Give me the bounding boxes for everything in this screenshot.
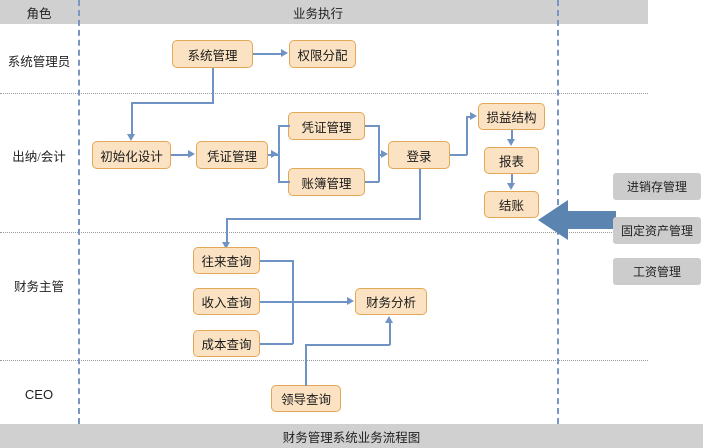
connector-login-up — [466, 117, 468, 155]
node-voucher-management-branch[interactable]: 凭证管理 — [288, 112, 365, 140]
arrowhead-analysis-from-leader — [385, 316, 393, 323]
lane-divider-1 — [0, 93, 648, 94]
node-voucher-management-main[interactable]: 凭证管理 — [196, 141, 268, 169]
connector-split-bus-vertical — [278, 126, 280, 182]
connector-cost-right — [260, 343, 293, 345]
connector-login-down — [419, 169, 421, 219]
connector-leader-up — [305, 345, 307, 386]
arrowhead-split-bus — [271, 150, 278, 158]
node-settlement[interactable]: 结账 — [484, 191, 539, 218]
footer-caption-bar: 财务管理系统业务流程图 — [0, 424, 703, 448]
lane-divider-3 — [0, 360, 648, 361]
arrowhead-profit-loss — [470, 112, 477, 120]
connector-login-to-query-bus — [226, 218, 421, 220]
arrowhead-voucher-main — [188, 150, 195, 158]
connector-sysmgmt-down — [212, 68, 214, 103]
arrowhead-login — [381, 150, 388, 158]
node-initialization-design[interactable]: 初始化设计 — [92, 141, 171, 169]
node-system-management[interactable]: 系统管理 — [172, 40, 253, 68]
side-module-fixed-assets[interactable]: 固定资产管理 — [613, 217, 701, 244]
arrowhead-permission — [281, 49, 288, 57]
arrowhead-financial-analysis — [347, 297, 354, 305]
connector-ledger-to-merge — [365, 181, 379, 183]
connector-leader-right — [305, 344, 390, 346]
connector-income-to-analysis — [260, 301, 348, 303]
flowchart-canvas: 角色 业务执行 系统管理员 出纳/会计 财务主管 CEO 系统管理 权限分配 初… — [0, 0, 703, 448]
connector-init-to-voucher — [171, 154, 188, 156]
lane-label-ceo: CEO — [0, 387, 78, 402]
node-financial-analysis[interactable]: 财务分析 — [355, 288, 427, 315]
side-module-inventory[interactable]: 进销存管理 — [613, 173, 701, 200]
connector-arap-right — [260, 260, 293, 262]
header-role-column-label: 角色 — [0, 0, 78, 24]
connector-login-right — [450, 154, 467, 156]
side-module-payroll[interactable]: 工资管理 — [613, 258, 701, 285]
node-cost-query[interactable]: 成本查询 — [193, 330, 260, 357]
connector-split-to-voucher-branch — [278, 125, 290, 127]
node-ledger-management[interactable]: 账簿管理 — [288, 168, 365, 196]
node-report[interactable]: 报表 — [484, 147, 539, 174]
connector-query-bus-down — [226, 218, 228, 245]
connector-sysmgmt-down-to-init — [131, 102, 133, 135]
arrowhead-init-design — [127, 134, 135, 141]
connector-split-to-ledger — [278, 181, 290, 183]
integration-arrow-icon — [538, 198, 616, 242]
vertical-divider-left — [78, 0, 80, 424]
header-exec-column-label: 业务执行 — [78, 0, 558, 24]
arrowhead-settlement — [507, 183, 515, 190]
node-ar-ap-query[interactable]: 往来查询 — [193, 247, 260, 274]
node-login[interactable]: 登录 — [388, 141, 450, 169]
connector-sysmgmt-to-permission — [253, 53, 281, 55]
arrowhead-report — [507, 139, 515, 146]
connector-voucher-branch-to-merge — [365, 125, 379, 127]
lane-label-system-admin: 系统管理员 — [0, 51, 78, 70]
lane-label-cashier: 出纳/会计 — [0, 146, 78, 165]
header-bar: 角色 业务执行 — [0, 0, 648, 24]
lane-label-finance-head: 财务主管 — [0, 276, 78, 295]
node-permission-assignment[interactable]: 权限分配 — [289, 40, 356, 68]
node-income-query[interactable]: 收入查询 — [193, 288, 260, 315]
diagram-title: 财务管理系统业务流程图 — [283, 427, 421, 446]
connector-sysmgmt-left — [131, 102, 214, 104]
node-profit-loss-structure[interactable]: 损益结构 — [478, 103, 545, 130]
node-leader-query[interactable]: 领导查询 — [271, 385, 341, 412]
connector-leader-up-to-analysis — [389, 323, 391, 345]
